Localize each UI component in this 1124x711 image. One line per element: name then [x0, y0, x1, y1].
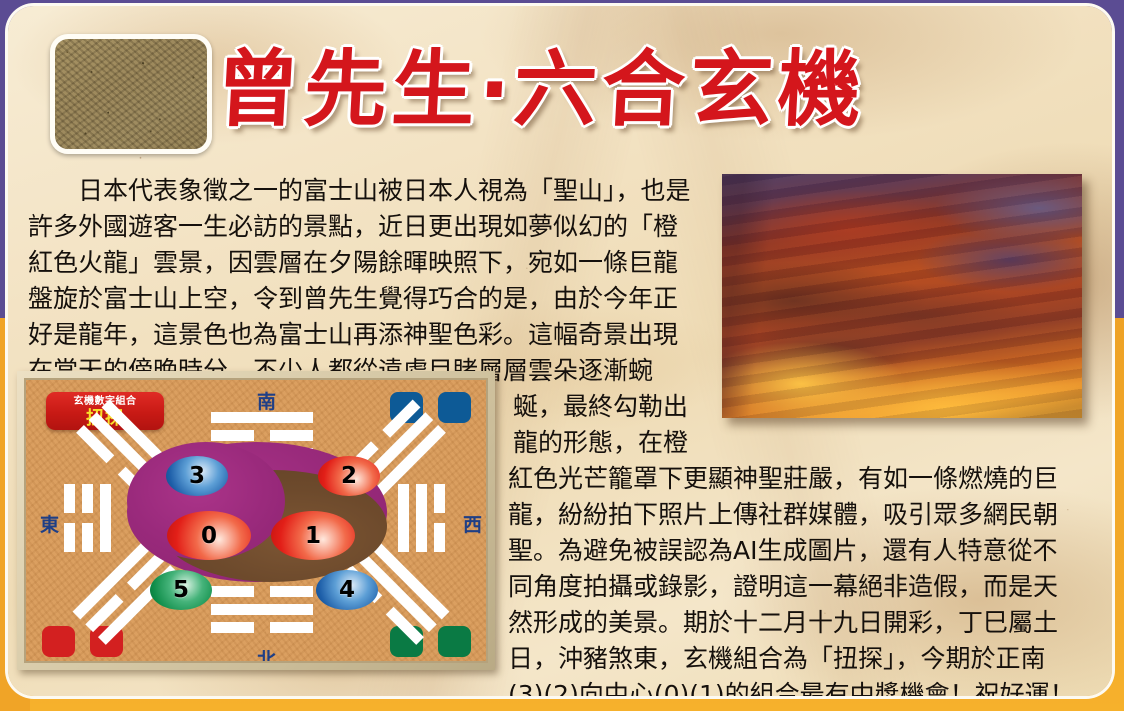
lucky-number-0[interactable]: 0	[167, 511, 251, 560]
trigram-bar	[270, 622, 313, 633]
direction-label-north: 北	[257, 645, 276, 663]
bagua-board-frame: 玄機數字組合 扭探 南 北 東 西	[17, 371, 495, 670]
trigram-bar	[270, 430, 313, 441]
trigram-bar	[270, 586, 313, 597]
article-line: 日本代表象徵之一的富士山被日本人視為「聖山」，也是	[28, 176, 691, 206]
trigram-bar	[100, 484, 111, 552]
corner-block-green-2	[438, 626, 471, 657]
lucky-number-3[interactable]: 3	[166, 456, 228, 496]
article-line: 好是龍年，這景色也為富士山再添神聖色彩。這幅奇景出現	[28, 320, 678, 350]
trigram-bar	[211, 622, 254, 633]
bagua-board: 玄機數字組合 扭探 南 北 東 西	[24, 378, 488, 663]
trigram-west	[398, 484, 450, 552]
lucky-number-5[interactable]: 5	[150, 570, 212, 610]
trigram-east	[64, 484, 116, 552]
trigram-bar	[211, 604, 313, 615]
article-line: 許多外國遊客一生必訪的景點，近日更出現如夢似幻的「橙	[28, 212, 678, 242]
trigram-bar	[64, 484, 75, 513]
corner-block-red-1	[42, 626, 75, 657]
trigram-north	[211, 586, 313, 638]
article-line: 龍的形態，在橙	[513, 428, 688, 458]
article-line: (3)(2)向中心(0)(1)的組合最有中獎機會！祝好運！	[508, 680, 1075, 696]
article-line: 然形成的美景。期於十二月十九日開彩，丁巳屬土	[508, 608, 1058, 638]
trigram-bar	[82, 484, 93, 513]
trigram-bar	[434, 523, 445, 552]
trigram-bar	[398, 484, 409, 552]
article-line: 日，沖豬煞東，玄機組合為「扭探」，今期於正南	[508, 644, 1046, 674]
trigram-bar	[82, 523, 93, 552]
corner-block-blue-2	[438, 392, 471, 423]
direction-label-east: 東	[40, 510, 59, 537]
direction-label-west: 西	[463, 510, 482, 537]
trigram-bar	[64, 523, 75, 552]
trigram-bar	[416, 484, 427, 552]
trigram-bar	[211, 586, 254, 597]
lucky-number-1[interactable]: 1	[271, 511, 355, 560]
article-line: 聖。為避免被誤認為AI生成圖片，還有人特意從不	[508, 536, 1057, 566]
article-line: 紅色光芒籠罩下更顯神聖莊嚴，有如一條燃燒的巨	[508, 464, 1058, 494]
article-line: 紅色火龍」雲景，因雲層在夕陽餘暉映照下，宛如一條巨龍	[28, 248, 678, 278]
trigram-bar	[211, 430, 254, 441]
trigram-bar	[434, 484, 445, 513]
article-line: 龍，紛紛拍下照片上傳社群媒體，吸引眾多網民朝	[508, 500, 1058, 530]
lucky-number-4[interactable]: 4	[316, 570, 378, 610]
poster-page: 曾先生‧六合玄機 日本代表象徵之一的富士山被日本人視為「聖山」，也是 許多外國遊…	[0, 0, 1124, 711]
article-line: 盤旋於富士山上空，令到曾先生覺得巧合的是，由於今年正	[28, 284, 678, 314]
trigram-bar	[211, 412, 313, 423]
article-line: 蜒，最終勾勒出	[513, 392, 688, 422]
direction-label-south: 南	[257, 387, 276, 414]
article-line: 同角度拍攝或錄影，證明這一幕絕非造假，而是天	[508, 572, 1058, 602]
lucky-number-2[interactable]: 2	[318, 456, 380, 496]
